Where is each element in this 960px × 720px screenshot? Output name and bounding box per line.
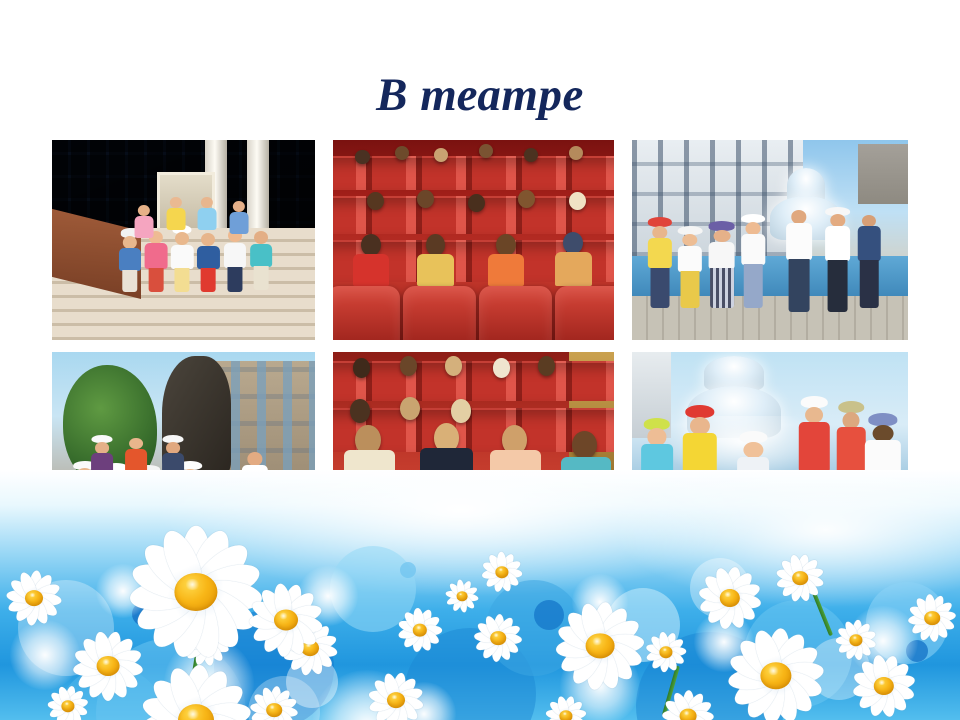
child-figure [231, 200, 247, 248]
daisy-core [680, 709, 697, 720]
audience-head [367, 192, 384, 210]
daisy-core [25, 590, 43, 606]
front-seat [555, 286, 614, 340]
daisy-core [659, 646, 672, 658]
daisy-flower [660, 688, 716, 720]
child-figure [199, 196, 215, 244]
child-figure [858, 212, 880, 308]
child-figure [787, 208, 812, 312]
chamomile-flower-border [0, 470, 960, 720]
child-figure [136, 204, 152, 252]
audience-head [350, 399, 370, 423]
daisy-core [174, 573, 217, 611]
scene-theatre-facade [52, 140, 315, 340]
daisy-flower [396, 606, 444, 654]
photo-theatre-steps[interactable] [52, 140, 315, 340]
audience-head [395, 146, 409, 160]
far-buildings [858, 144, 908, 204]
daisy-flower [4, 568, 64, 628]
daisy-flower [724, 624, 828, 720]
audience-head [400, 356, 417, 375]
audience-body [353, 254, 390, 286]
daisy-core [849, 634, 862, 646]
photo-auditorium-wide[interactable] [333, 140, 614, 340]
audience-body [488, 254, 525, 286]
daisy-core [97, 656, 120, 676]
daisy-core [792, 571, 808, 585]
daisy-core [495, 566, 508, 578]
front-seat [479, 286, 552, 340]
front-seat [333, 286, 400, 340]
daisy-flower [246, 580, 326, 660]
daisy-flower [552, 598, 648, 694]
child-figure [709, 224, 734, 308]
audience-head [353, 358, 370, 377]
daisy-flower [774, 552, 826, 604]
daisy-core [559, 710, 572, 720]
child-figure [825, 208, 850, 312]
daisy-flower [906, 592, 958, 644]
audience-head [569, 192, 586, 210]
daisy-flower [480, 550, 524, 594]
child-figure [252, 228, 270, 290]
daisy-core [586, 633, 615, 658]
audience-head [361, 234, 381, 256]
daisy-core [61, 700, 74, 712]
daisy-core [274, 609, 298, 630]
daisy-core [924, 611, 940, 625]
daisy-flower [248, 684, 300, 720]
child-head [572, 431, 597, 459]
daisy-core [490, 631, 506, 645]
child-figure [168, 196, 184, 244]
audience-head [538, 356, 555, 375]
audience-head [468, 194, 485, 212]
daisy-core [387, 692, 405, 708]
scene-fountain-square [632, 140, 908, 340]
audience-body [417, 254, 454, 286]
audience-head [355, 150, 369, 164]
daisy-core [413, 624, 427, 637]
daisy-core [266, 703, 282, 717]
seat-row [333, 156, 614, 190]
daisy-flower [850, 652, 918, 720]
audience-head [563, 232, 583, 254]
audience-body [555, 252, 592, 286]
seat-row [333, 361, 614, 402]
front-seat [403, 286, 476, 340]
child-figure [649, 220, 671, 308]
audience-head [569, 146, 583, 160]
child-figure [742, 216, 764, 308]
title-block: В театре [0, 36, 960, 155]
daisy-flower [366, 670, 426, 720]
photo-fountain-square[interactable] [632, 140, 908, 340]
daisy-flower [696, 564, 764, 632]
daisy-flower [472, 612, 524, 664]
audience-head [451, 399, 471, 423]
page-title: В театре [376, 67, 584, 123]
bokeh-circle [400, 562, 416, 578]
daisy-flower [46, 684, 90, 720]
daisy-core [457, 591, 468, 601]
daisy-flower [136, 660, 256, 720]
slide-canvas: В театре [0, 0, 960, 720]
audience-head [445, 356, 462, 375]
audience-head [493, 358, 510, 377]
audience-head [496, 234, 516, 256]
daisy-flower [544, 694, 588, 720]
scene-auditorium [333, 140, 614, 340]
child-figure [679, 228, 701, 308]
daisy-flower [644, 630, 688, 674]
daisy-flower [444, 578, 480, 614]
